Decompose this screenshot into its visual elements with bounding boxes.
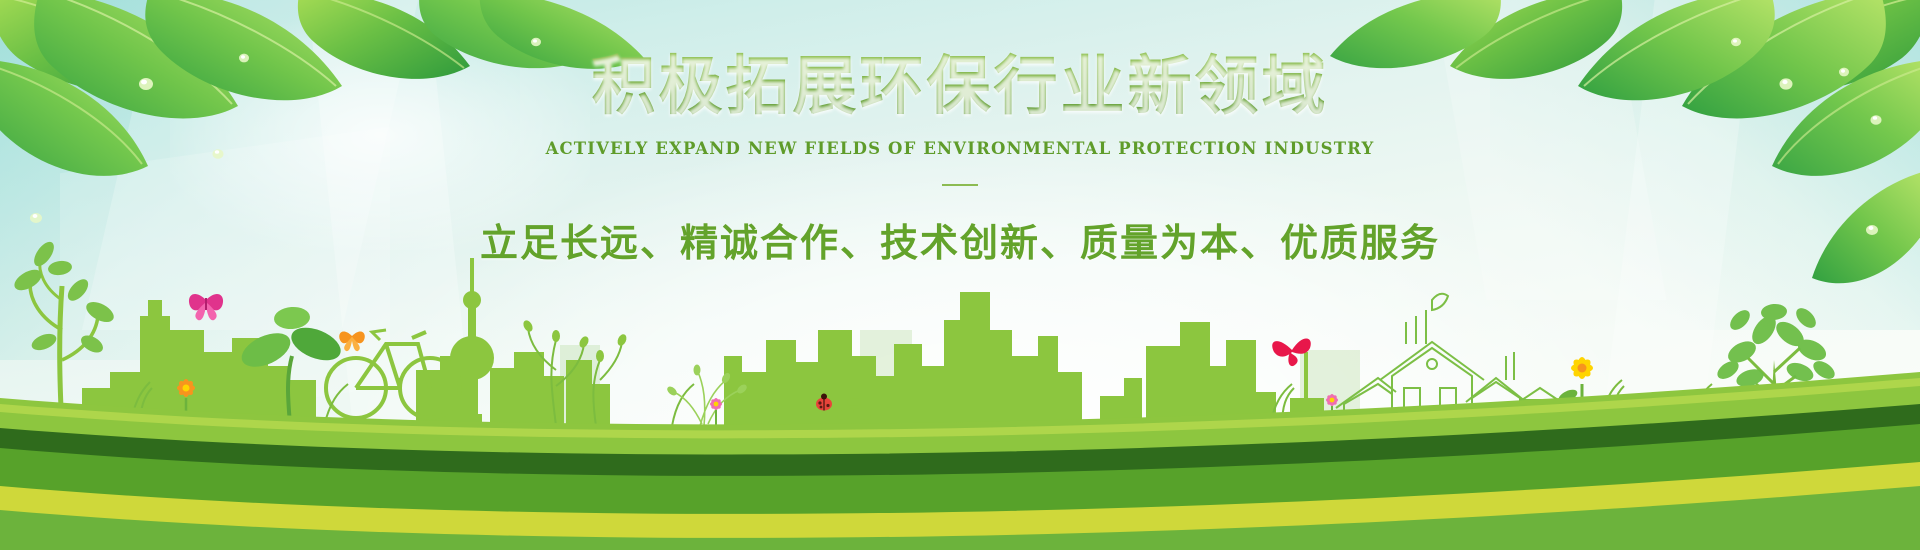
company-slogan: 立足长远、精诚合作、技术创新、质量为本、优质服务 (0, 212, 1920, 267)
divider (942, 184, 978, 186)
banner-text-block: 积极拓展环保行业新领域 ACTIVELY EXPAND NEW FIELDS O… (0, 52, 1920, 267)
page-subtitle: ACTIVELY EXPAND NEW FIELDS OF ENVIRONMEN… (0, 139, 1920, 158)
page-title: 积极拓展环保行业新领域 (0, 52, 1920, 121)
eco-banner: 积极拓展环保行业新领域 ACTIVELY EXPAND NEW FIELDS O… (0, 0, 1920, 550)
